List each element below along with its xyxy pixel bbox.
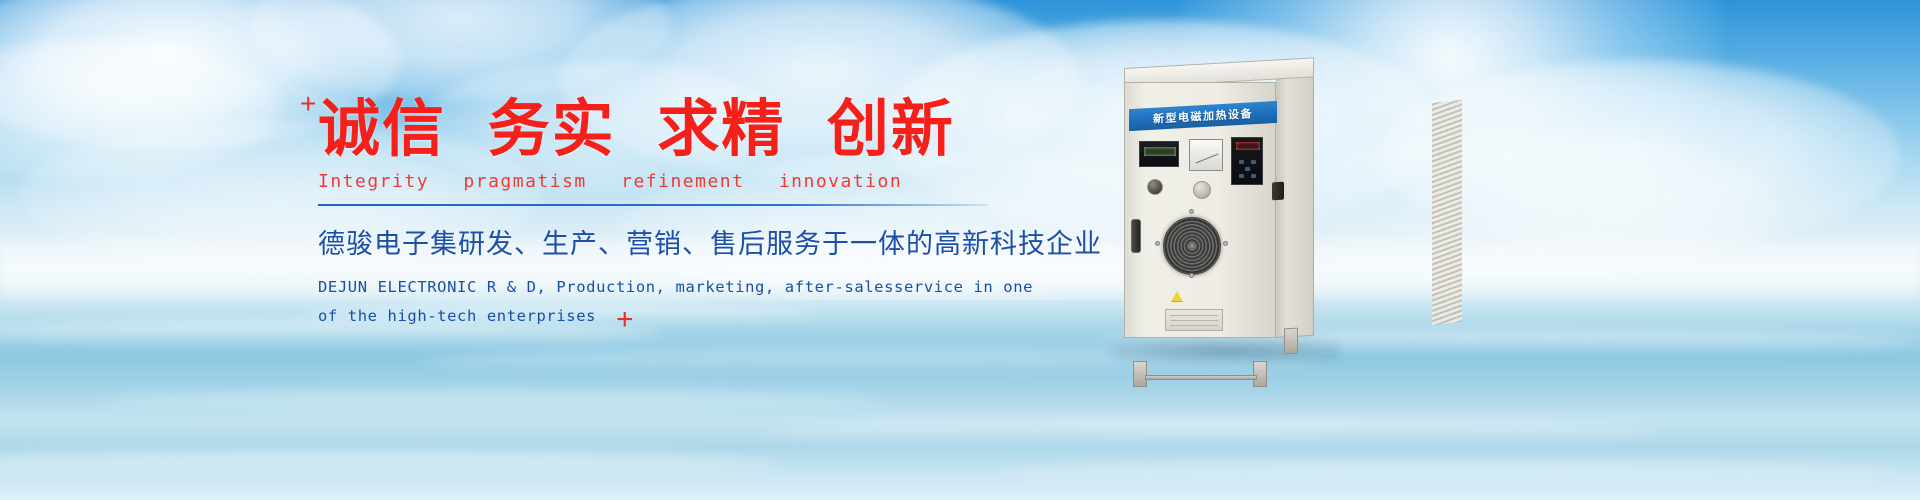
cloud-shape — [1260, 130, 1780, 280]
machine-brand-label: 新型电磁加热设备 — [1129, 101, 1277, 131]
headline-word: 诚信 — [318, 92, 446, 165]
keypad-button — [1239, 174, 1244, 178]
cooling-fan-grille — [1161, 215, 1223, 277]
subtitle-word: refinement — [621, 171, 744, 192]
machine-spec-plate — [1165, 309, 1223, 331]
fan-bolt — [1223, 241, 1228, 246]
banner-text-block: 诚信 务实 求精 创新 Integrity pragmatism refinem… — [318, 96, 1018, 330]
subtitle-word: pragmatism — [463, 171, 586, 192]
machine-foot — [1133, 361, 1147, 387]
control-knob — [1147, 179, 1163, 195]
keypad-button — [1251, 174, 1256, 178]
promotional-banner: + + 诚信 务实 求精 创新 Integrity pragmatism ref… — [0, 0, 1920, 500]
wave-highlight — [0, 452, 780, 476]
tagline-chinese: 德骏电子集研发、生产、营销、售后服务于一体的高新科技企业 — [318, 222, 1018, 261]
divider-rule — [318, 204, 988, 206]
headline-english-subtitle: Integrity pragmatism refinement innovati… — [318, 171, 1018, 192]
headline-word: 求精 — [657, 92, 785, 165]
fan-bolt — [1155, 241, 1160, 246]
headline-word: 务实 — [488, 92, 616, 165]
analog-ammeter-gauge — [1189, 139, 1223, 171]
machine-latch — [1272, 182, 1284, 201]
cloud-shape — [250, 0, 670, 100]
keypad-button — [1251, 160, 1256, 164]
wave-highlight — [760, 420, 1660, 442]
keypad-button — [1245, 167, 1250, 171]
temperature-controller-display — [1139, 141, 1179, 167]
machine-front-panel: 新型电磁加热设备 — [1124, 82, 1276, 338]
machine-vent-grille — [1432, 100, 1462, 325]
tagline-english: DEJUN ELECTRONIC R & D, Production, mark… — [318, 273, 1018, 330]
machine-foot — [1284, 328, 1298, 355]
machine-foot — [1253, 361, 1267, 387]
headline-word: 创新 — [827, 92, 955, 165]
keypad-button — [1239, 160, 1244, 164]
fan-bolt — [1189, 273, 1194, 278]
inverter-keypad-display — [1231, 137, 1263, 185]
warning-triangle-label — [1171, 291, 1183, 302]
plus-decoration-icon: + — [300, 90, 316, 118]
machine-side-panel — [1276, 72, 1314, 338]
machine-base-crossbar — [1145, 375, 1257, 380]
headline-chinese: 诚信 务实 求精 创新 — [318, 96, 1018, 163]
fan-bolt — [1189, 209, 1194, 214]
subtitle-word: innovation — [779, 171, 902, 192]
machine-door-handle — [1131, 219, 1141, 253]
product-electromagnetic-heater: 新型电磁加热设备 — [1124, 60, 1314, 360]
wave-highlight — [1000, 462, 1900, 482]
cloud-shape — [0, 40, 280, 180]
tagline-english-line: DEJUN ELECTRONIC R & D, Production, mark… — [318, 273, 1018, 302]
subtitle-word: Integrity — [318, 171, 429, 192]
wave-highlight — [100, 392, 880, 412]
control-knob — [1193, 181, 1211, 199]
tagline-english-line: of the high-tech enterprises — [318, 302, 1018, 331]
